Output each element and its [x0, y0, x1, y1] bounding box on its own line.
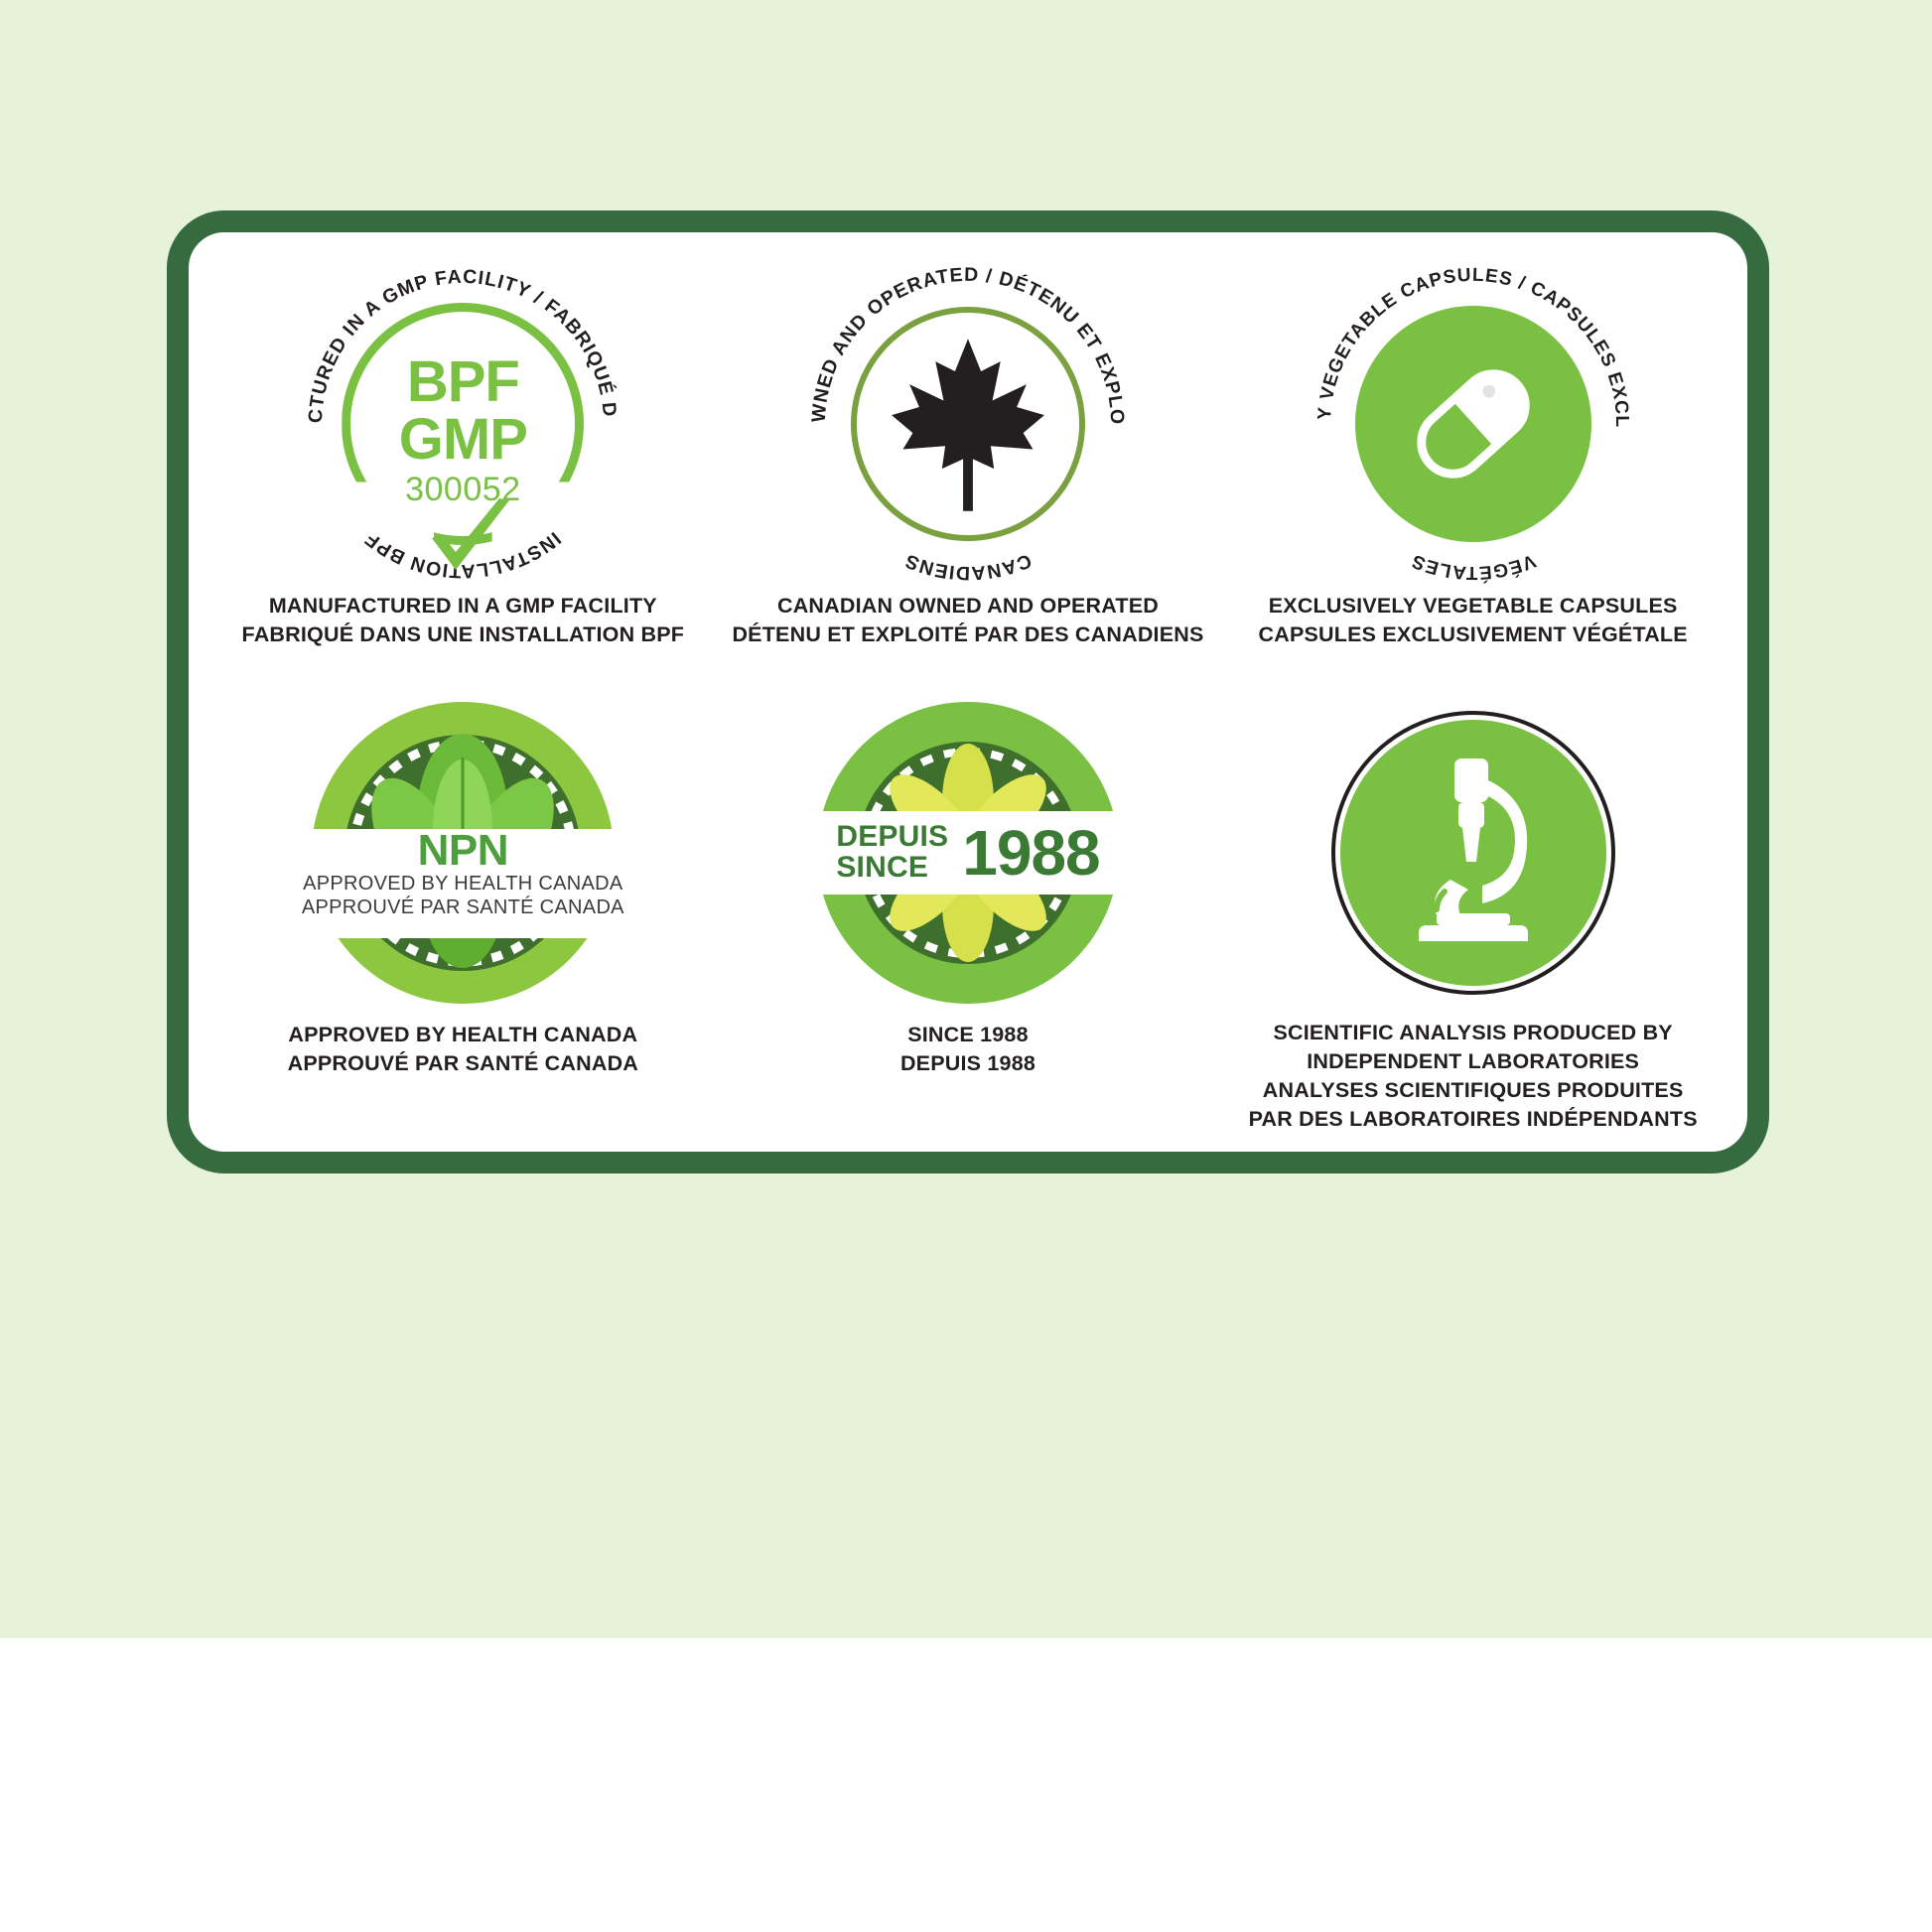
badges-grid: MANUFACTURED IN A GMP FACILITY / FABRIQU…: [189, 232, 1747, 1152]
since-word-fr: DEPUIS: [836, 822, 948, 853]
gmp-caption-fr: FABRIQUÉ DANS UNE INSTALLATION BPF: [242, 621, 685, 649]
npn-sub-fr: APPROUVÉ PAR SANTÉ CANADA: [302, 897, 624, 920]
since-1988-seal-icon: DEPUIS SINCE 1988: [804, 689, 1132, 1017]
gmp-gmp-label: GMP: [399, 411, 527, 469]
npn-seal-icon: NPN APPROVED BY HEALTH CANADA APPROUVÉ P…: [299, 689, 626, 1017]
badge-since-1988[interactable]: DEPUIS SINCE 1988 SINCE 1988 DEPUIS 1988: [716, 689, 1221, 1134]
capsules-ring-bottom-text: VÉGÉTALES: [1408, 550, 1538, 584]
scientific-caption: SCIENTIFIC ANALYSIS PRODUCED BY INDEPEND…: [1249, 1019, 1698, 1134]
microscope-icon: [1393, 755, 1554, 943]
npn-caption-en: APPROVED BY HEALTH CANADA: [288, 1021, 638, 1049]
capsules-caption: EXCLUSIVELY VEGETABLE CAPSULES CAPSULES …: [1259, 592, 1688, 649]
canadian-caption: CANADIAN OWNED AND OPERATED DÉTENU ET EX…: [732, 592, 1203, 649]
badge-npn[interactable]: NPN APPROVED BY HEALTH CANADA APPROUVÉ P…: [210, 689, 716, 1134]
npn-title: NPN: [418, 829, 508, 873]
microscope-seal-icon: [1310, 689, 1637, 1017]
gmp-bpf-label: BPF: [407, 354, 519, 411]
maple-leaf-seal-icon: CANADIAN OWNED AND OPERATED / DÉTENU ET …: [804, 260, 1132, 588]
since-caption-en: SINCE 1988: [900, 1021, 1035, 1049]
since-caption: SINCE 1988 DEPUIS 1988: [900, 1021, 1035, 1078]
gmp-seal-icon: MANUFACTURED IN A GMP FACILITY / FABRIQU…: [299, 260, 626, 588]
trust-badges-card: MANUFACTURED IN A GMP FACILITY / FABRIQU…: [167, 210, 1769, 1173]
checkmark-icon: [426, 496, 515, 576]
npn-sub-en: APPROVED BY HEALTH CANADA: [303, 873, 622, 897]
npn-caption-fr: APPROUVÉ PAR SANTÉ CANADA: [288, 1049, 638, 1078]
npn-caption: APPROVED BY HEALTH CANADA APPROUVÉ PAR S…: [288, 1021, 638, 1078]
npn-text-band: NPN APPROVED BY HEALTH CANADA APPROUVÉ P…: [302, 829, 623, 938]
since-word-en: SINCE: [836, 853, 928, 884]
scientific-caption-fr-1: ANALYSES SCIENTIFIQUES PRODUITES: [1249, 1076, 1698, 1105]
scientific-caption-en-1: SCIENTIFIC ANALYSIS PRODUCED BY: [1249, 1019, 1698, 1047]
gmp-caption: MANUFACTURED IN A GMP FACILITY FABRIQUÉ …: [242, 592, 685, 649]
canadian-caption-fr: DÉTENU ET EXPLOITÉ PAR DES CANADIENS: [732, 621, 1203, 649]
gmp-caption-en: MANUFACTURED IN A GMP FACILITY: [242, 592, 685, 621]
maple-leaf-icon: [886, 336, 1050, 514]
scientific-caption-fr-2: PAR DES LABORATOIRES INDÉPENDANTS: [1249, 1105, 1698, 1134]
capsule-pill-icon: [1385, 336, 1562, 512]
capsules-caption-en: EXCLUSIVELY VEGETABLE CAPSULES: [1259, 592, 1688, 621]
canadian-caption-en: CANADIAN OWNED AND OPERATED: [732, 592, 1203, 621]
since-caption-fr: DEPUIS 1988: [900, 1049, 1035, 1078]
capsules-caption-fr: CAPSULES EXCLUSIVEMENT VÉGÉTALE: [1259, 621, 1688, 649]
badge-canadian[interactable]: CANADIAN OWNED AND OPERATED / DÉTENU ET …: [716, 260, 1221, 689]
canadian-ring-bottom-text: CANADIENS: [901, 549, 1035, 584]
badge-capsules[interactable]: EXCLUSIVELY VEGETABLE CAPSULES / CAPSULE…: [1220, 260, 1725, 689]
svg-text:CANADIENS: CANADIENS: [901, 549, 1035, 584]
since-year: 1988: [962, 821, 1099, 885]
scientific-caption-en-2: INDEPENDENT LABORATORIES: [1249, 1047, 1698, 1076]
since-text-band: DEPUIS SINCE 1988: [805, 811, 1131, 895]
page-root: MANUFACTURED IN A GMP FACILITY / FABRIQU…: [0, 0, 1932, 1932]
badge-scientific-analysis[interactable]: SCIENTIFIC ANALYSIS PRODUCED BY INDEPEND…: [1220, 689, 1725, 1134]
svg-text:VÉGÉTALES: VÉGÉTALES: [1408, 550, 1538, 584]
capsule-seal-icon: EXCLUSIVELY VEGETABLE CAPSULES / CAPSULE…: [1310, 260, 1637, 588]
badge-gmp[interactable]: MANUFACTURED IN A GMP FACILITY / FABRIQU…: [210, 260, 716, 689]
